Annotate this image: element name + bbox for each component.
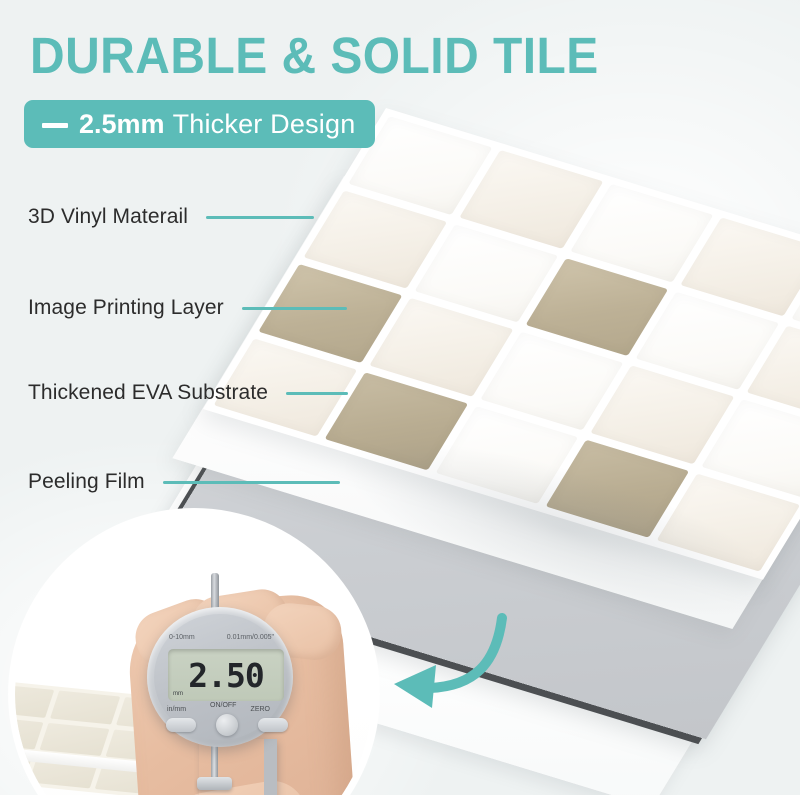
tile-cell [304, 190, 448, 288]
callout-leader-line [286, 392, 348, 395]
gauge-inmm-button[interactable] [166, 718, 196, 732]
tile-cell [591, 365, 735, 463]
inset-tile-cell [15, 716, 44, 750]
badge-subtitle-text: Thicker Design [173, 109, 356, 140]
tile-cell [546, 439, 690, 537]
curved-arrow-illustration [378, 612, 508, 727]
gauge-reading-value: 2.50 [188, 659, 263, 692]
gauge-anvil [197, 777, 232, 790]
tile-cell [414, 224, 558, 322]
callout-image-printing-layer: Image Printing Layer [28, 296, 347, 320]
callout-leader-line [242, 307, 347, 310]
tile-cell [792, 251, 800, 349]
callout-leader-line [163, 481, 340, 484]
callout-vinyl-material: 3D Vinyl Materail [28, 205, 314, 229]
gauge-resolution-spec: 0.01mm/0.005" [227, 634, 274, 641]
tile-cell [480, 332, 624, 430]
callout-label: 3D Vinyl Materail [28, 205, 188, 229]
inset-photo: 0-10mm 0.01mm/0.005" 2.50 mm in/mm ON/OF… [15, 515, 373, 795]
gauge-onoff-button[interactable] [216, 714, 238, 736]
gauge-zero-button[interactable] [258, 718, 288, 732]
tile-cell [435, 406, 579, 504]
dash-icon [42, 123, 68, 128]
gauge-dial-face: 0-10mm 0.01mm/0.005" 2.50 mm in/mm ON/OF… [154, 614, 286, 740]
tile-cell [369, 298, 513, 396]
gauge-button-label-zero: ZERO [251, 706, 270, 713]
gauge-button-row [166, 714, 288, 736]
tile-grid [214, 116, 800, 572]
callout-label: Thickened EVA Substrate [28, 381, 268, 405]
page-title: DURABLE & SOLID TILE [30, 30, 599, 81]
inset-tile-cell [40, 723, 110, 757]
callout-label: Image Printing Layer [28, 296, 224, 320]
curved-arrow-icon [378, 612, 508, 727]
layer-stack-illustration [300, 80, 800, 580]
subtitle-badge: 2.5mm Thicker Design [24, 100, 375, 148]
gauge-range-spec: 0-10mm [169, 634, 195, 641]
inset-tile-cell [50, 691, 120, 725]
callout-label: Peeling Film [28, 470, 145, 494]
thickness-gauge: 0-10mm 0.01mm/0.005" 2.50 mm in/mm ON/OF… [147, 587, 297, 795]
tile-cell [702, 399, 800, 497]
callout-leader-line [206, 216, 314, 219]
tile-cell [636, 291, 780, 389]
tile-cell [570, 184, 714, 282]
tile-cell [525, 258, 669, 356]
tile-cell [681, 217, 800, 315]
gauge-dial-body: 0-10mm 0.01mm/0.005" 2.50 mm in/mm ON/OF… [147, 607, 293, 747]
callout-peeling-film: Peeling Film [28, 470, 340, 494]
tile-cell [747, 325, 800, 423]
measurement-photo-inset: 0-10mm 0.01mm/0.005" 2.50 mm in/mm ON/OF… [8, 508, 380, 795]
gauge-reading-unit: mm [173, 691, 183, 697]
inset-tile-cell [15, 684, 55, 718]
badge-thickness-value: 2.5mm [79, 109, 165, 140]
gauge-lcd-screen: 2.50 mm [168, 649, 284, 701]
gauge-button-label-onoff: ON/OFF [210, 702, 236, 709]
gauge-button-label-inmm: in/mm [167, 706, 186, 713]
callout-eva-substrate: Thickened EVA Substrate [28, 381, 348, 405]
tile-cell [657, 473, 800, 571]
tile-cell [459, 150, 603, 248]
infographic-poster: DURABLE & SOLID TILE 2.5mm Thicker Desig… [0, 0, 800, 795]
layer-tile-face [203, 108, 800, 580]
